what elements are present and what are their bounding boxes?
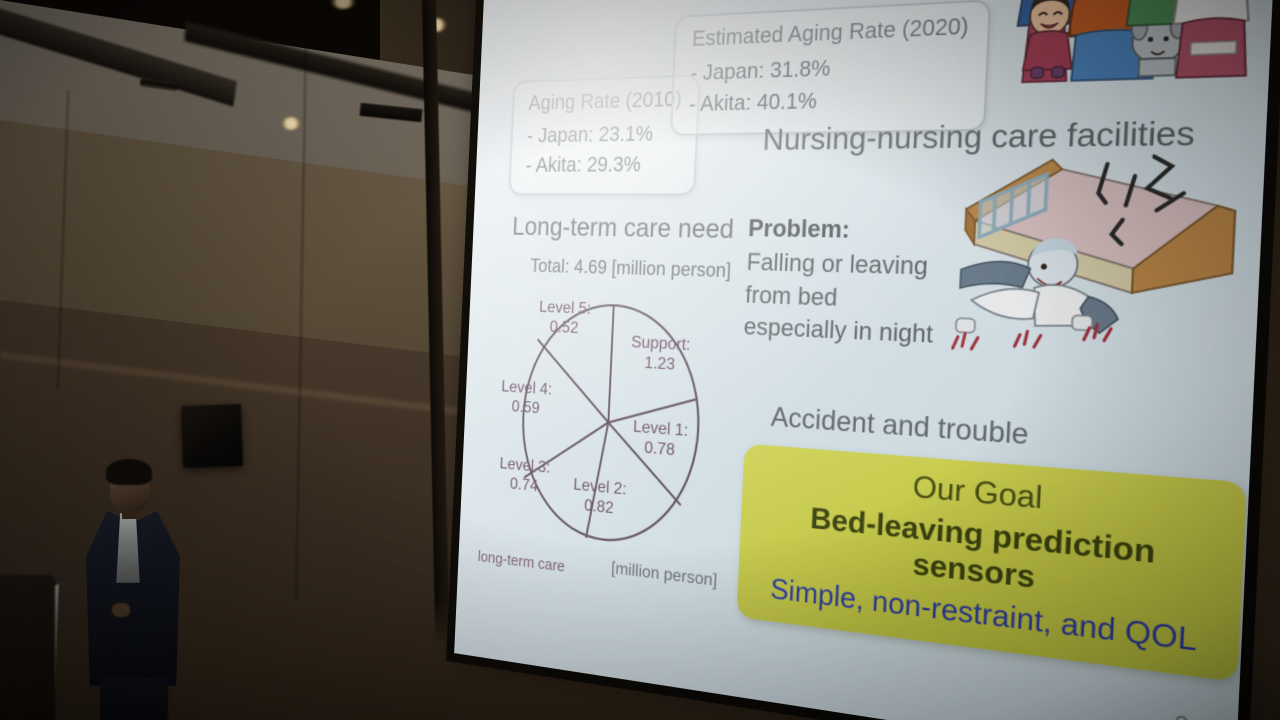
fallen-from-bed-clipart [922, 133, 1253, 384]
pie-label-level-4: Level 4: 0.59 [500, 378, 552, 420]
heading-nursing-care-facilities: Nursing-nursing care facilities [762, 114, 1196, 157]
projection-screen-area: Back Ground a [0, 0, 1280, 720]
pie-label-level-3-text: Level 3 [499, 455, 546, 476]
slide-page-number: 2 [1173, 711, 1189, 720]
problem-line-3: especially in night [743, 311, 988, 355]
stat-box-line-akita: - Akita: 40.1% [688, 81, 966, 120]
long-term-care-pie-chart: Support: 1.23 Level 1: 0.78 Level 2: 0.8… [484, 285, 744, 570]
pie-label-level-1-text: Level 1 [633, 418, 684, 440]
pie-label-level-2-text: Level 2 [573, 476, 623, 498]
screenshot-stage: Back Ground a [0, 0, 1280, 720]
family-clipart [998, 0, 1270, 85]
stat-box-title: Aging Rate (2010) [528, 88, 682, 116]
stat-box-title: Estimated Aging Rate (2020) [692, 14, 970, 52]
problem-line-2: from bed [745, 278, 990, 319]
heading-accident-and-trouble: Accident and trouble [770, 402, 1029, 453]
problem-line-1: Falling or leaving [746, 246, 991, 285]
pie-label-support-text: Support [631, 333, 687, 354]
heading-long-term-care-need: Long-term care need [512, 212, 735, 245]
pie-label-level-2: Level 2: 0.82 [572, 476, 627, 521]
projection-screen: Back Ground a [454, 0, 1278, 720]
problem-block: Problem: Falling or leaving from bed esp… [743, 214, 993, 354]
pie-footer-right: [million person] [611, 559, 718, 591]
our-goal-box: Our Goal Bed-leaving prediction sensors … [737, 444, 1247, 683]
pie-value-level-4: 0.59 [511, 398, 540, 417]
problem-label: Problem: [748, 214, 993, 246]
pie-label-level-4-text: Level 4 [501, 378, 548, 398]
stat-box-line-japan: - Japan: 23.1% [526, 119, 681, 152]
pie-label-level-5: Level 5: 0.52 [538, 298, 591, 339]
stat-box-aging-rate-2010: Aging Rate (2010) - Japan: 23.1% - Akita… [508, 74, 701, 195]
stat-box-line-akita: - Akita: 29.3% [525, 150, 679, 181]
pie-value-level-2: 0.82 [584, 497, 614, 518]
pie-label-support: Support: 1.23 [630, 333, 691, 376]
goal-line-1: Our Goal [755, 457, 1230, 534]
pie-label-level-1: Level 1: 0.78 [632, 418, 689, 462]
pie-footer-left: long-term care [477, 548, 565, 576]
stat-box-estimated-aging-rate-2020: Estimated Aging Rate (2020) - Japan: 31.… [670, 0, 991, 136]
pie-value-support: 1.23 [644, 354, 675, 374]
presentation-slide: Back Ground a [454, 0, 1278, 720]
pie-value-level-1: 0.78 [644, 439, 675, 460]
pie-label-level-3: Level 3: 0.74 [498, 455, 550, 498]
pie-value-level-5: 0.52 [549, 318, 579, 337]
stat-box-line-japan: - Japan: 31.8% [690, 48, 968, 90]
goal-line-2: Bed-leaving prediction sensors [751, 496, 1227, 618]
goal-line-3: Simple, non-restraint, and QOL [750, 569, 1224, 662]
text-total-million-person: Total: 4.69 [million person] [530, 255, 732, 282]
